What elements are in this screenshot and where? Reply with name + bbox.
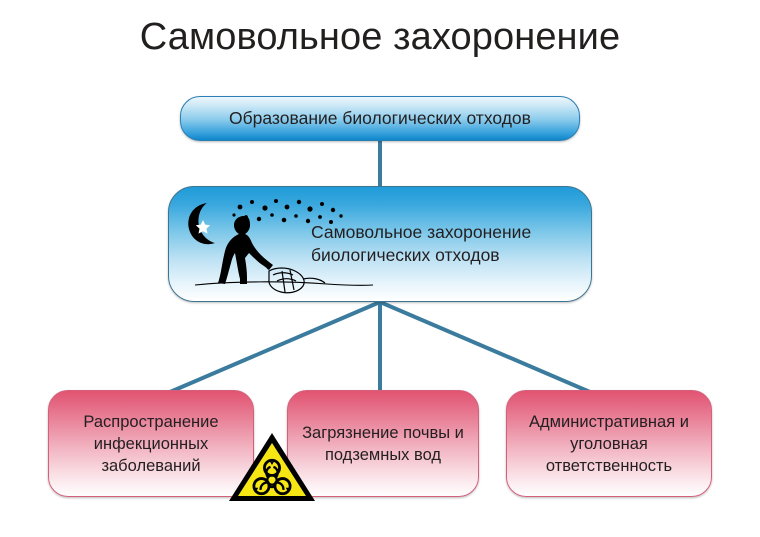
node-illicit-burial[interactable]: Самовольное захоронение биологических от…	[168, 186, 592, 302]
waste-bundle	[269, 268, 325, 293]
node-soil-water-pollution-label: Загрязнение почвы и подземных вод	[288, 422, 478, 466]
node-infection-spread-label: Распространение инфекционных заболеваний	[49, 411, 253, 477]
diagram-canvas: Самовольное захоронение Образование биол…	[0, 0, 760, 537]
person-dragging-waste-silhouette	[218, 216, 273, 284]
edge-act-to-liability	[380, 302, 590, 392]
node-administrative-criminal-liability[interactable]: Административная и уголовная ответственн…	[506, 390, 712, 497]
node-source-waste-generation[interactable]: Образование биологических отходов	[180, 96, 580, 141]
page-title: Самовольное захоронение	[0, 14, 760, 60]
edge-act-to-infection	[170, 302, 380, 392]
node-administrative-criminal-liability-label: Административная и уголовная ответственн…	[507, 411, 711, 477]
node-source-label: Образование биологических отходов	[219, 108, 541, 129]
crescent-moon-icon	[188, 203, 215, 244]
node-infection-spread[interactable]: Распространение инфекционных заболеваний	[48, 390, 254, 497]
ground-line	[195, 282, 373, 286]
node-illicit-burial-label: Самовольное захоронение биологических от…	[301, 221, 591, 267]
biohazard-warning-sign	[228, 432, 316, 502]
